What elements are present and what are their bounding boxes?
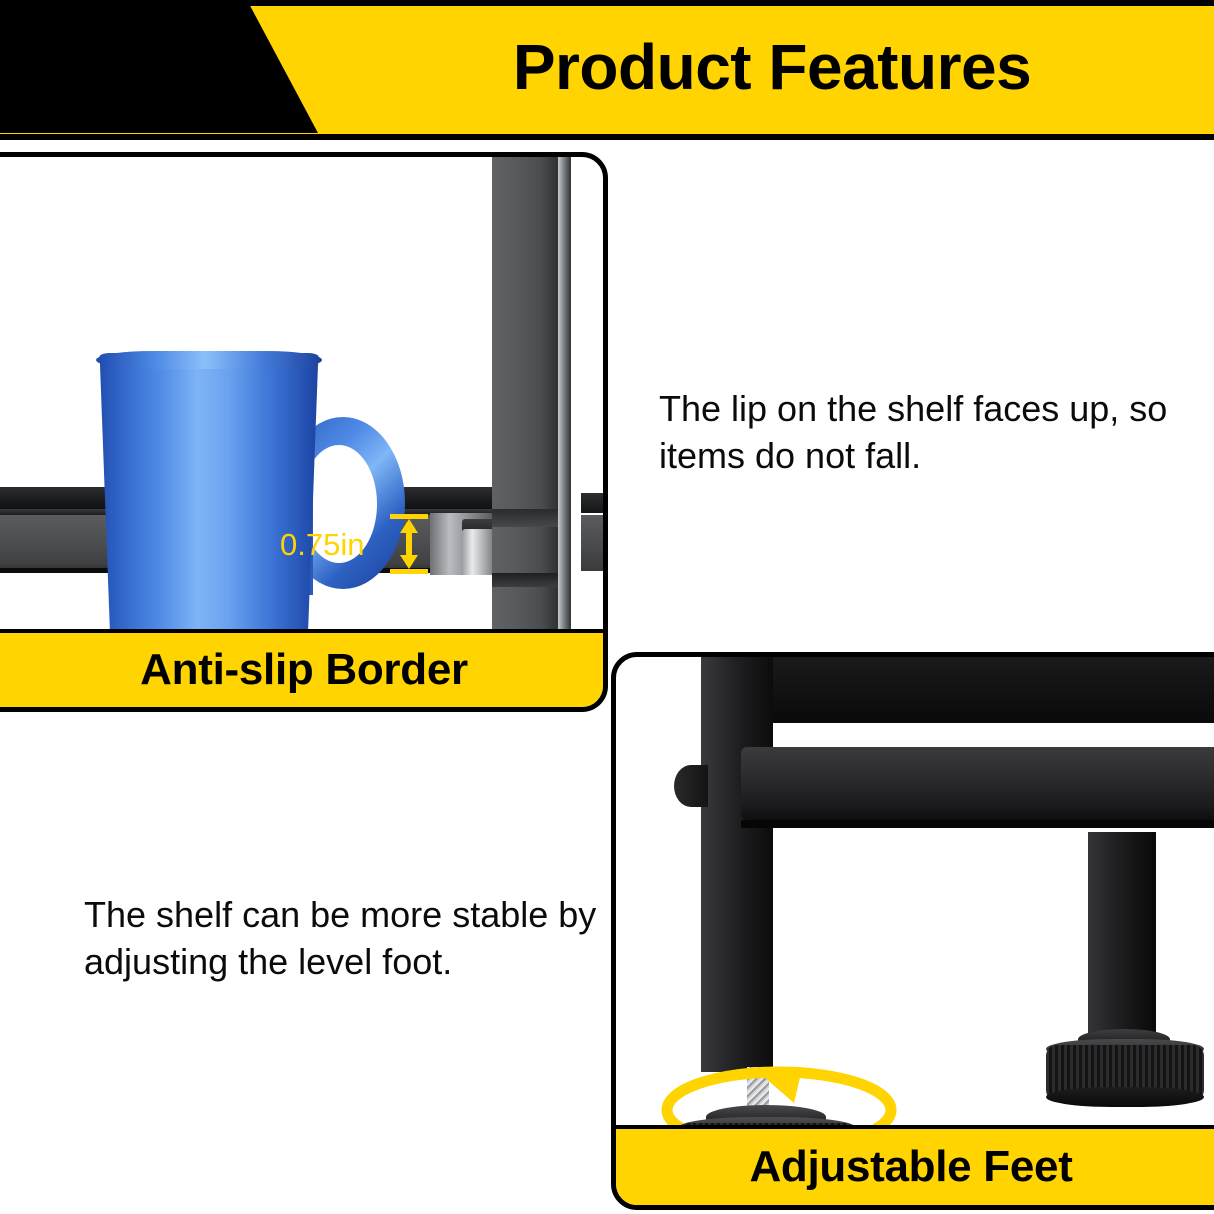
- mug-rim: [96, 351, 322, 369]
- mug-body: [95, 353, 323, 632]
- page-title: Product Features: [330, 0, 1214, 133]
- shelf-vertical-post: [492, 157, 558, 632]
- caption-label-anti-slip: Anti-slip Border: [140, 645, 468, 695]
- caption-label-adjustable-feet: Adjustable Feet: [749, 1142, 1072, 1192]
- header-black-wedge: [0, 0, 330, 133]
- middle-rail-shadow: [741, 820, 1214, 828]
- header-bottom-rule: [0, 134, 1214, 140]
- header-banner: Product Features: [0, 0, 1214, 140]
- shelf-leg-left: [701, 657, 773, 1072]
- anti-slip-illustration: 0.75in: [0, 157, 603, 632]
- panel-anti-slip-border: 0.75in Anti-slip Border: [0, 152, 608, 712]
- dimension-label: 0.75in: [280, 527, 364, 563]
- adjustable-feet-illustration: [616, 657, 1214, 1131]
- middle-cross-rail: [741, 747, 1214, 820]
- leg-side-knob: [674, 765, 708, 807]
- panel-adjustable-feet: Adjustable Feet: [611, 652, 1214, 1210]
- description-shelf-lip: The lip on the shelf faces up, so items …: [659, 386, 1179, 480]
- leveling-foot-right-bottom: [1046, 1087, 1204, 1107]
- dimension-arrow-icon: [388, 513, 430, 575]
- post-highlight-edge: [558, 157, 571, 632]
- shelf-leg-right: [1088, 832, 1156, 1037]
- blue-mug: [95, 353, 405, 632]
- shelf-connector-pin: [462, 529, 496, 575]
- post-right-gap: [571, 157, 581, 632]
- panel-caption-adjustable-feet: Adjustable Feet: [616, 1125, 1214, 1205]
- panel-caption-anti-slip: Anti-slip Border: [0, 629, 603, 707]
- description-level-foot: The shelf can be more stable by adjustin…: [84, 892, 604, 986]
- post-bracket-upper: [492, 509, 558, 527]
- post-bracket-lower: [492, 573, 558, 587]
- upper-rail: [756, 657, 1214, 723]
- dimension-annotation: 0.75in: [280, 513, 430, 577]
